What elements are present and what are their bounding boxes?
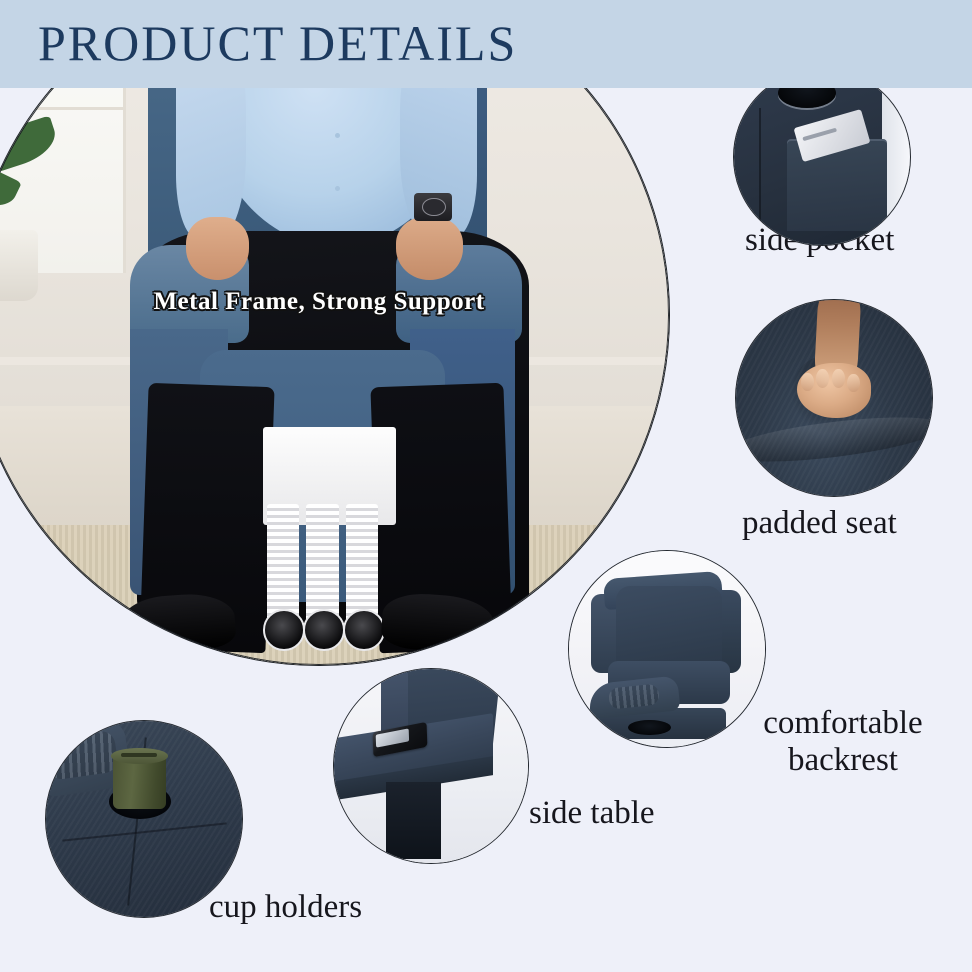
- person-hand-right: [396, 217, 463, 280]
- feature-label-line-1: comfortable: [763, 705, 922, 741]
- hero-overlay-text: Metal Frame, Strong Support: [153, 288, 484, 316]
- person-hand-left: [186, 217, 249, 280]
- infographic-canvas: Metal Frame, Strong Support side pocket: [0, 0, 972, 972]
- side-table-scene: [334, 669, 528, 863]
- feature-photo-comfortable-backrest: [568, 550, 766, 748]
- cup-holder-hole: [628, 720, 671, 736]
- metal-frame-foot: [263, 609, 305, 651]
- metal-frame-rod: [346, 504, 378, 623]
- metal-frame-foot: [303, 609, 345, 651]
- table-support-pillar: [386, 782, 440, 860]
- tumbler-lid: [111, 748, 168, 764]
- wristwatch: [414, 193, 453, 221]
- metal-frame-foot: [343, 609, 385, 651]
- feature-label-padded-seat: padded seat: [742, 505, 897, 542]
- feature-label-comfortable-backrest: comfortablebackrest: [748, 705, 938, 779]
- hand-pressing: [797, 363, 871, 418]
- backrest-scene: [569, 551, 765, 747]
- feature-label-side-table: side table: [529, 795, 655, 832]
- feature-photo-side-pocket: [733, 68, 911, 246]
- side-pocket-scene: [734, 69, 910, 245]
- feature-photo-side-table: [333, 668, 529, 864]
- feature-photo-padded-seat: [735, 299, 933, 497]
- metal-frame-rod: [306, 504, 338, 623]
- feature-label-line-2: backrest: [788, 742, 898, 778]
- fabric-seam: [759, 108, 761, 231]
- feature-photo-cup-holders: [45, 720, 243, 918]
- padded-seat-scene: [736, 300, 932, 496]
- backrest-cushion: [616, 586, 722, 672]
- page-title: PRODUCT DETAILS: [38, 8, 517, 78]
- house-plant: [0, 63, 109, 301]
- cup-holders-scene: [46, 721, 242, 917]
- metal-frame-rod: [267, 504, 299, 623]
- header-band: PRODUCT DETAILS: [0, 0, 972, 88]
- plant-pot: [0, 230, 38, 301]
